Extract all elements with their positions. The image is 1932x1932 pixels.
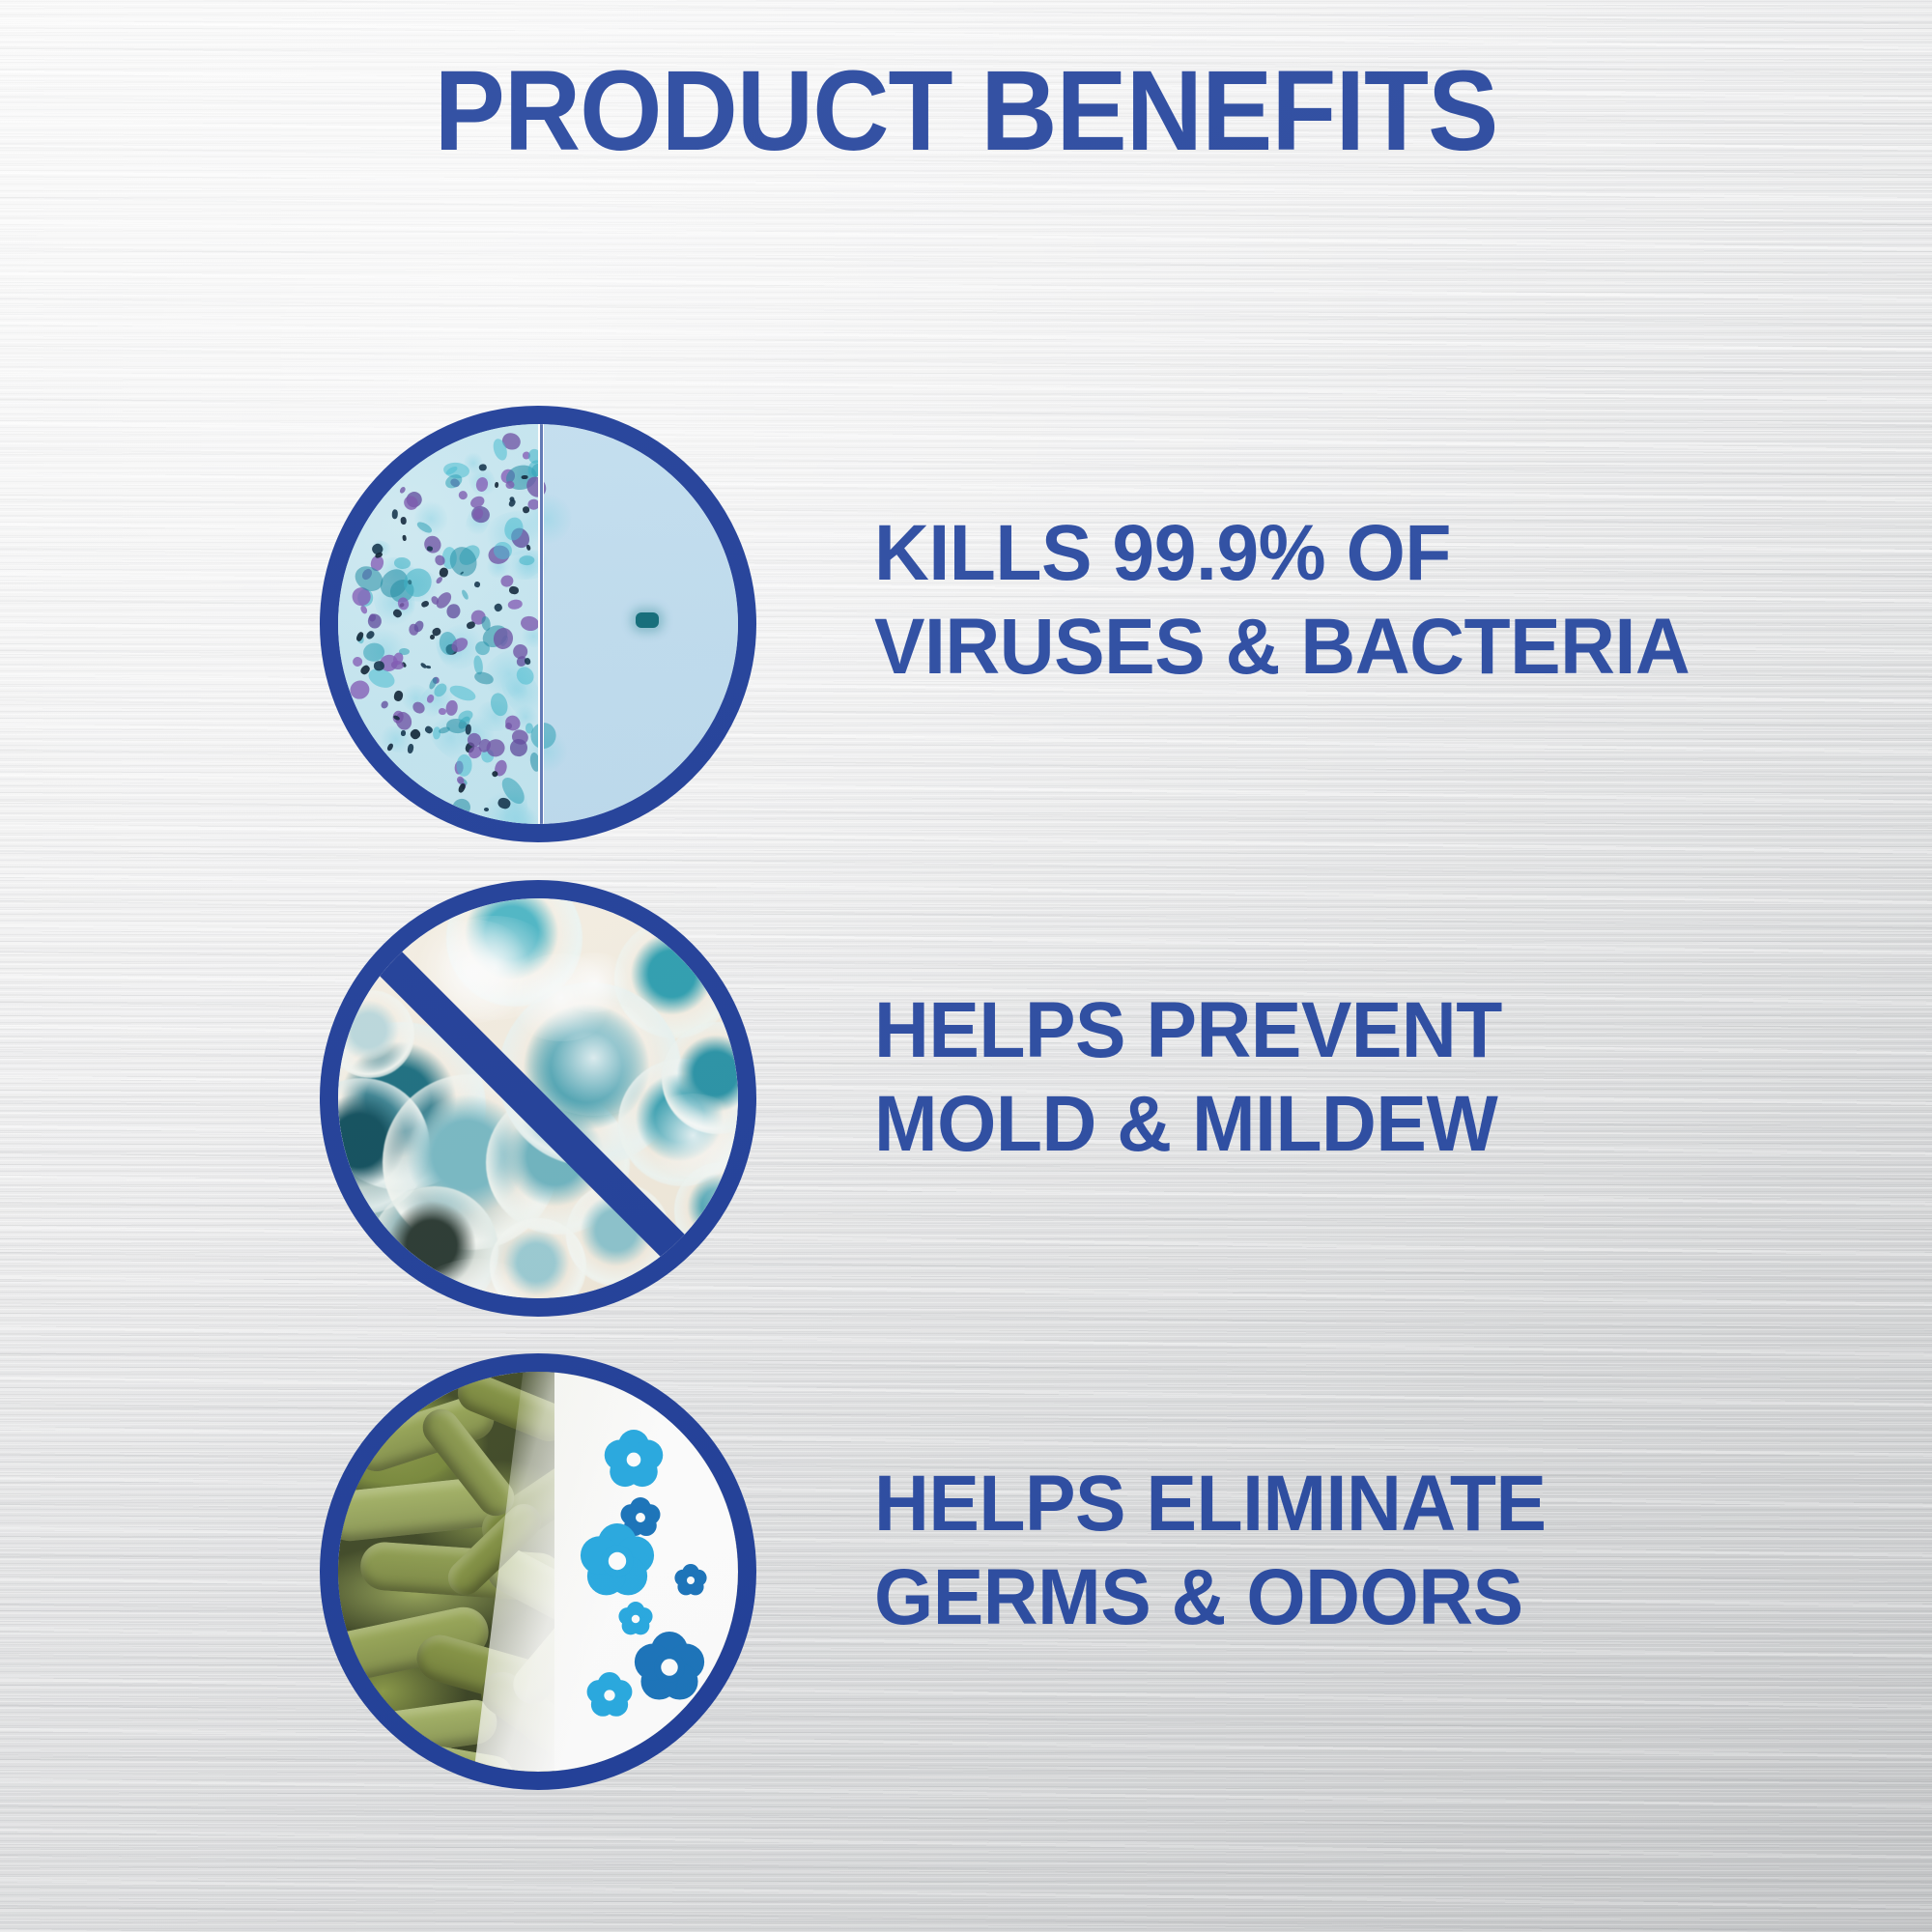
flower-icon bbox=[580, 1523, 655, 1599]
petri-divider-line bbox=[540, 424, 543, 824]
germs-to-fresh-scent-icon bbox=[320, 1353, 756, 1790]
benefit-line-1-1: MOLD & MILDEW bbox=[874, 1078, 1858, 1172]
flower-icon bbox=[604, 1430, 664, 1490]
flower-icon bbox=[674, 1564, 707, 1597]
benefit-label-1: HELPS PREVENT MOLD & MILDEW bbox=[874, 984, 1858, 1172]
benefit-label-0: KILLS 99.9% OF VIRUSES & BACTERIA bbox=[874, 507, 1858, 695]
flower-icon bbox=[634, 1632, 705, 1703]
benefit-icon-wrap-1 bbox=[320, 880, 756, 1317]
mold-prohibition-icon bbox=[320, 880, 756, 1317]
benefit-icon-wrap-0 bbox=[320, 406, 756, 842]
benefit-row-kills-viruses-bacteria: KILLS 99.9% OF VIRUSES & BACTERIA bbox=[0, 406, 1932, 850]
benefit-line-0-0: KILLS 99.9% OF bbox=[874, 507, 1858, 601]
petri-dish-art bbox=[338, 424, 738, 824]
benefit-line-2-0: HELPS ELIMINATE bbox=[874, 1458, 1858, 1551]
petri-dish-before-after-icon bbox=[320, 406, 756, 842]
benefit-label-2: HELPS ELIMINATE GERMS & ODORS bbox=[874, 1458, 1858, 1645]
microbe-speck bbox=[438, 707, 445, 714]
germs-art bbox=[338, 1372, 738, 1772]
page-title: PRODUCT BENEFITS bbox=[68, 54, 1864, 168]
benefit-line-1-0: HELPS PREVENT bbox=[874, 984, 1858, 1078]
microbe-speck bbox=[522, 475, 528, 479]
lone-microbe-speck bbox=[636, 612, 659, 628]
infographic-canvas: PRODUCT BENEFITS bbox=[0, 0, 1932, 1932]
flower-icon bbox=[586, 1672, 633, 1719]
benefit-row-eliminate-germs-odors: HELPS ELIMINATE GERMS & ODORS bbox=[0, 1353, 1932, 1798]
microbe-speck bbox=[455, 754, 471, 777]
microbe-speck bbox=[403, 535, 407, 541]
microbe-speck bbox=[399, 648, 410, 655]
mold-mycelium bbox=[556, 952, 633, 1012]
benefit-line-0-1: VIRUSES & BACTERIA bbox=[874, 601, 1858, 695]
benefit-line-2-1: GERMS & ODORS bbox=[874, 1551, 1858, 1645]
benefit-row-prevent-mold-mildew: HELPS PREVENT MOLD & MILDEW bbox=[0, 880, 1932, 1324]
benefit-icon-wrap-2 bbox=[320, 1353, 756, 1790]
